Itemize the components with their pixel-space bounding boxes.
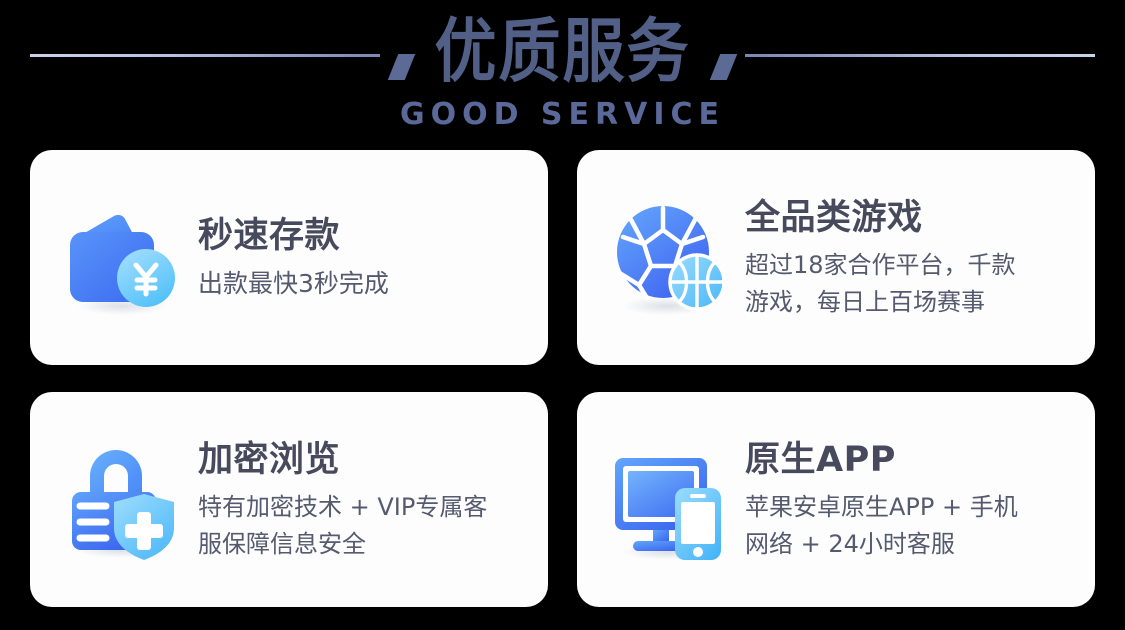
- feature-card-games[interactable]: 全品类游戏 超过18家合作平台，千款游戏，每日上百场赛事: [577, 150, 1095, 365]
- feature-card-native-app-title: 原生APP: [745, 439, 1081, 481]
- feature-card-deposit-title: 秒速存款: [198, 215, 534, 257]
- feature-card-grid: 秒速存款 出款最快3秒完成: [30, 150, 1095, 605]
- feature-card-games-text: 全品类游戏 超过18家合作平台，千款游戏，每日上百场赛事: [745, 195, 1081, 321]
- soccer-basketball-icon: [605, 194, 733, 322]
- page-subtitle: GOOD SERVICE: [0, 98, 1125, 132]
- page-title-wrap: 优质服务: [0, 8, 1125, 86]
- feature-card-encryption-text: 加密浏览 特有加密技术 + VIP专属客服保障信息安全: [198, 437, 534, 563]
- feature-card-native-app-desc: 苹果安卓原生APP + 手机网络 + 24小时客服: [745, 489, 1081, 563]
- lock-shield-icon: [58, 436, 186, 564]
- monitor-phone-icon: [605, 436, 733, 564]
- feature-card-encryption-title: 加密浏览: [198, 439, 534, 481]
- feature-card-deposit-text: 秒速存款 出款最快3秒完成: [198, 213, 534, 302]
- page-title: 优质服务: [434, 8, 690, 95]
- service-feature-banner: 优质服务 GOOD SERVICE: [0, 0, 1125, 630]
- feature-card-encryption-desc: 特有加密技术 + VIP专属客服保障信息安全: [198, 489, 534, 563]
- feature-card-native-app-text: 原生APP 苹果安卓原生APP + 手机网络 + 24小时客服: [745, 437, 1081, 563]
- feature-card-native-app[interactable]: 原生APP 苹果安卓原生APP + 手机网络 + 24小时客服: [577, 392, 1095, 607]
- feature-card-deposit-desc: 出款最快3秒完成: [198, 265, 534, 302]
- feature-card-deposit[interactable]: 秒速存款 出款最快3秒完成: [30, 150, 548, 365]
- feature-card-games-desc: 超过18家合作平台，千款游戏，每日上百场赛事: [745, 247, 1081, 321]
- feature-card-games-title: 全品类游戏: [745, 197, 1081, 239]
- wallet-yen-icon: [58, 194, 186, 322]
- feature-card-encryption[interactable]: 加密浏览 特有加密技术 + VIP专属客服保障信息安全: [30, 392, 548, 607]
- banner-header: 优质服务 GOOD SERVICE: [0, 0, 1125, 140]
